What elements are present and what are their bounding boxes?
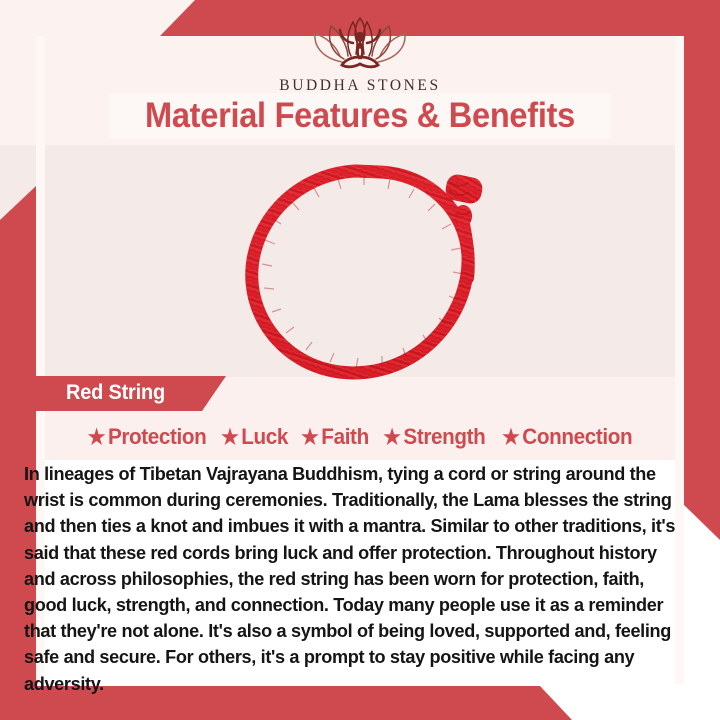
benefit-item-connection: ★ Connection	[502, 424, 632, 450]
benefit-item-protection: ★ Protection	[88, 424, 207, 450]
benefits-list: ★ Protection ★ Luck ★ Faith ★ Strength ★…	[36, 420, 684, 454]
benefit-label: Strength	[404, 424, 486, 450]
lotus-meditating-figure-icon	[308, 12, 412, 74]
star-icon: ★	[502, 427, 519, 448]
section-title-red-string: Red String	[66, 376, 165, 411]
benefit-label: Luck	[241, 424, 288, 450]
benefit-item-strength: ★ Strength	[383, 424, 485, 450]
benefit-label: Protection	[108, 424, 207, 450]
description-paragraph: In lineages of Tibetan Vajrayana Buddhis…	[24, 461, 690, 697]
benefit-label: Connection	[522, 424, 632, 450]
star-icon: ★	[383, 427, 400, 448]
star-icon: ★	[221, 427, 238, 448]
material-features-poster: BUDDHA STONES Material Features & Benefi…	[0, 0, 720, 720]
page-title: Material Features & Benefits	[25, 93, 695, 139]
brand-logo: BUDDHA STONES	[0, 12, 720, 95]
benefit-label: Faith	[321, 424, 369, 450]
product-image-red-string-bracelet	[232, 158, 500, 390]
star-icon: ★	[88, 427, 105, 448]
benefit-item-faith: ★ Faith	[301, 424, 369, 450]
benefit-item-luck: ★ Luck	[221, 424, 288, 450]
star-icon: ★	[301, 427, 318, 448]
